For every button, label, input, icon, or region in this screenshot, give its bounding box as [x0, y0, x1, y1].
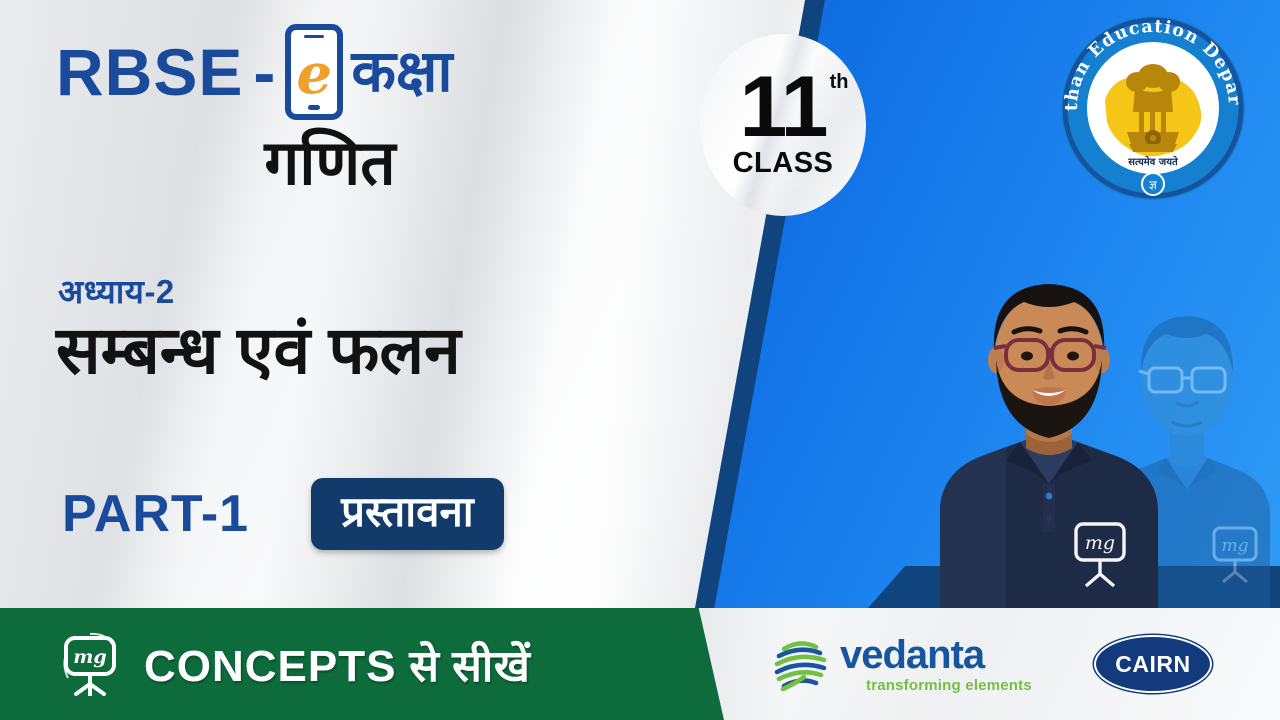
vedanta-name: vedanta — [840, 635, 1032, 675]
cairn-logo: CAIRN — [1094, 635, 1212, 693]
footer-tagline-en: CONCEPTS — [144, 642, 396, 691]
smartphone-icon: e — [285, 24, 343, 120]
vedanta-globe-icon — [770, 633, 832, 695]
svg-text:ज्ञ: ज्ञ — [1149, 178, 1157, 192]
chapter-number: अध्याय-2 — [58, 268, 175, 313]
class-badge: 11 th CLASS — [700, 34, 866, 216]
vedanta-wordmark: vedanta transforming elements — [840, 635, 1032, 693]
svg-text:mg: mg — [73, 646, 106, 668]
part-row: PART-1 प्रस्तावना — [62, 478, 504, 550]
class-number: 11 — [740, 59, 827, 155]
svg-text:mg: mg — [1085, 532, 1115, 554]
brand-row: RBSE - e कक्षा — [56, 24, 453, 120]
topic-badge: प्रस्तावना — [311, 478, 504, 550]
footer-tagline: CONCEPTS से सीखें — [144, 634, 530, 694]
ashoka-lion-capital-emblem — [1126, 64, 1180, 152]
vedanta-logo: vedanta transforming elements — [770, 633, 1032, 695]
subject-title: गणित — [0, 130, 660, 198]
footer-tagline-hi: से सीखें — [409, 642, 530, 691]
part-label: PART-1 — [62, 484, 249, 544]
class-ordinal-suffix: th — [830, 74, 849, 92]
rbse-wordmark: RBSE — [56, 39, 243, 105]
chapter-title: सम्बन्ध एवं फलन — [56, 314, 461, 387]
thumbnail-canvas: mg — [0, 0, 1280, 720]
class-number-row: 11 th — [740, 70, 827, 146]
rajasthan-education-department-seal: Rajasthan Education Department सत्यमेव ज… — [1053, 8, 1253, 208]
e-letter: e — [297, 46, 333, 102]
mg-easel-logo-icon: mg — [58, 632, 124, 696]
svg-text:mg: mg — [1221, 536, 1248, 556]
instructor-photos: mg — [888, 232, 1280, 608]
brand-dash: - — [253, 39, 275, 105]
seal-motto: सत्यमेव जयते — [1127, 155, 1179, 168]
footer-green-bar: mg CONCEPTS से सीखें — [0, 608, 724, 720]
kaksha-wordmark: कक्षा — [351, 43, 452, 101]
vedanta-tagline: transforming elements — [866, 678, 1032, 693]
sponsor-logos: vedanta transforming elements CAIRN — [770, 608, 1280, 720]
front-instructor-photo: mg — [936, 256, 1162, 608]
